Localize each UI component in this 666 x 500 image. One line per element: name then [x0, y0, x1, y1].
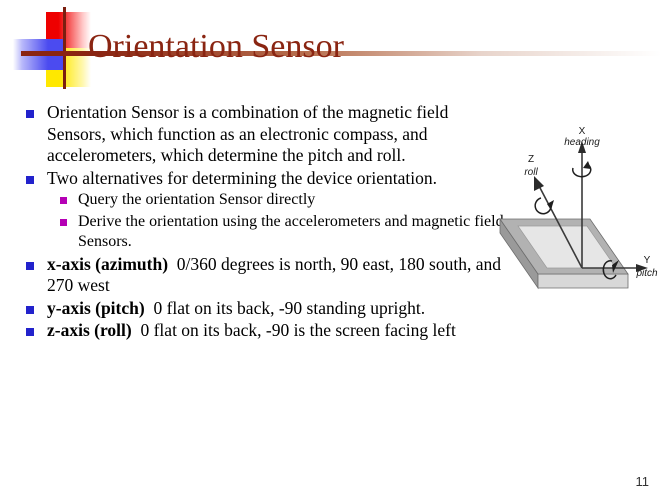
list-item-text: y-axis (pitch) 0 flat on its back, -90 s…: [47, 298, 508, 320]
list-item-emphasis: y-axis (pitch): [47, 298, 145, 318]
bullet-square-icon: [26, 262, 34, 270]
bullet-square-icon: [26, 306, 34, 314]
list-item-text: z-axis (roll) 0 flat on its back, -90 is…: [47, 320, 508, 342]
bullet-square-icon: [26, 328, 34, 336]
sub-bullet-square-icon: [60, 197, 67, 204]
orientation-axes-diagram: X heading Y pitch Z roll: [495, 106, 666, 310]
list-item: Query the orientation Sensor directly: [26, 190, 508, 211]
list-item-text: Orientation Sensor is a combination of t…: [47, 102, 508, 167]
list-item-text: Two alternatives for determining the dev…: [47, 168, 508, 190]
bullet-square-icon: [26, 176, 34, 184]
y-axis-label: pitch: [635, 268, 658, 279]
list-item-emphasis: z-axis (roll): [47, 320, 132, 340]
y-axis-letter: Y: [644, 255, 651, 266]
list-item: Orientation Sensor is a combination of t…: [26, 102, 508, 167]
list-item: y-axis (pitch) 0 flat on its back, -90 s…: [26, 298, 508, 320]
bullet-square-icon: [26, 110, 34, 118]
list-item: x-axis (azimuth) 0/360 degrees is north,…: [26, 254, 508, 297]
page-title: Orientation Sensor: [88, 28, 344, 66]
list-item: z-axis (roll) 0 flat on its back, -90 is…: [26, 320, 508, 342]
list-item-text: x-axis (azimuth) 0/360 degrees is north,…: [47, 254, 508, 297]
list-item-text: Query the orientation Sensor directly: [78, 190, 508, 211]
page-number: 11: [636, 474, 650, 489]
sub-bullet-square-icon: [60, 219, 67, 226]
z-axis-label: roll: [524, 167, 538, 178]
device-slab-icon: [500, 219, 628, 288]
logo-vertical-line: [63, 7, 66, 89]
list-item-text: Derive the orientation using the acceler…: [78, 212, 508, 253]
z-axis-letter: Z: [528, 154, 534, 165]
bullet-list: Orientation Sensor is a combination of t…: [26, 102, 508, 343]
x-axis-letter: X: [579, 126, 586, 137]
slide-canvas: Orientation Sensor Orientation Sensor is…: [0, 0, 666, 500]
list-item: Derive the orientation using the acceler…: [26, 212, 508, 253]
list-item-emphasis: x-axis (azimuth): [47, 254, 168, 274]
list-item: Two alternatives for determining the dev…: [26, 168, 508, 190]
x-axis-label: heading: [564, 137, 600, 148]
decorative-logo: [13, 12, 91, 87]
